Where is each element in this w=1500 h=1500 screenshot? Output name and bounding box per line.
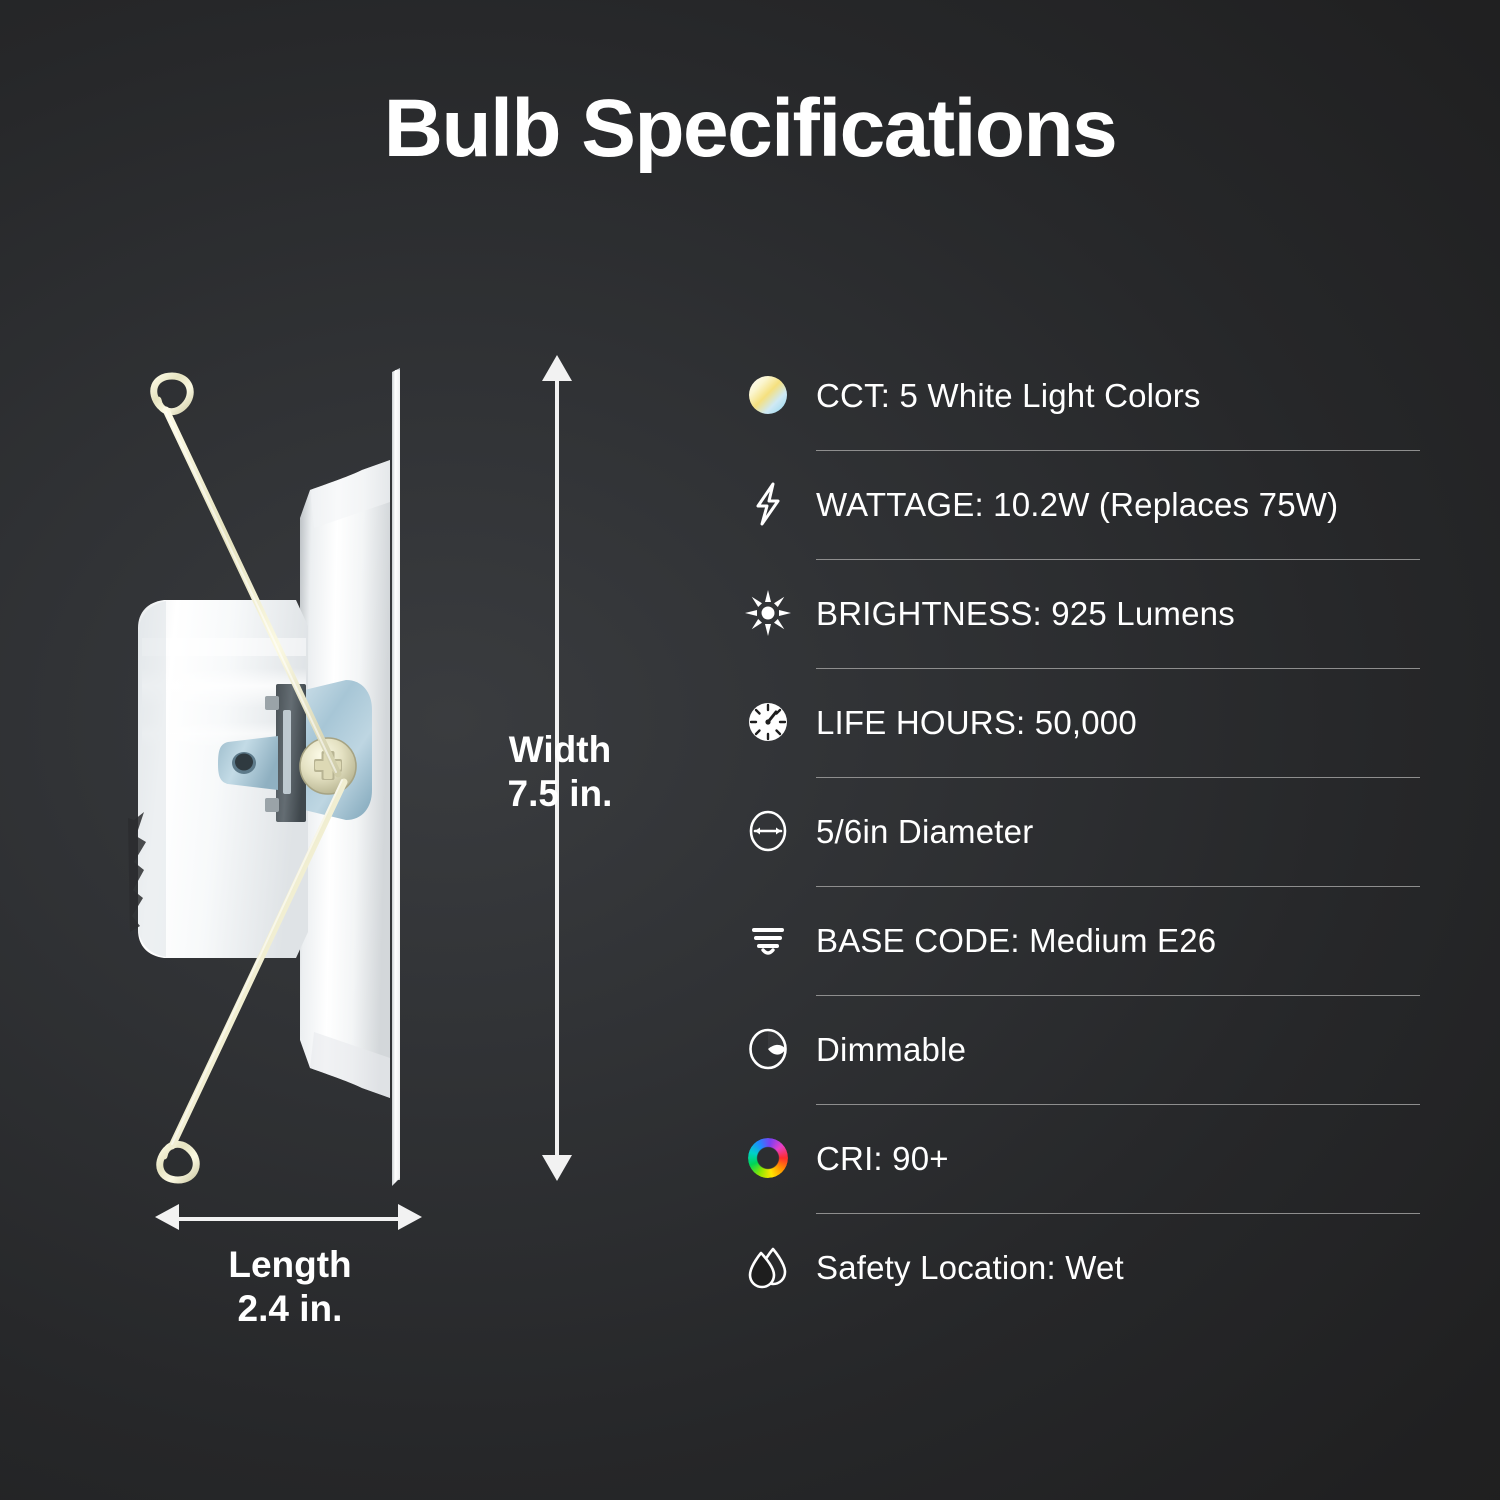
spec-label-base-code: BASE CODE: Medium E26 [816, 924, 1216, 957]
width-dimension-arrow-bottom [542, 1155, 572, 1181]
spec-row-dimmable: Dimmable [720, 1006, 1420, 1092]
spec-label-safety-location: Safety Location: Wet [816, 1251, 1124, 1284]
spec-row-cct: CCT: 5 White Light Colors [720, 352, 1420, 438]
length-dimension-label: Length 2.4 in. [180, 1243, 400, 1330]
spec-label-brightness: BRIGHTNESS: 925 Lumens [816, 597, 1235, 630]
cct-gradient-circle-icon [720, 364, 816, 426]
length-label-text: Length [180, 1243, 400, 1287]
spec-divider-2 [720, 547, 1420, 570]
color-wheel-icon [720, 1127, 816, 1189]
lightning-bolt-icon [720, 473, 816, 535]
water-droplets-icon [720, 1236, 816, 1298]
spec-divider-5 [720, 874, 1420, 897]
spec-label-life-hours: LIFE HOURS: 50,000 [816, 706, 1137, 739]
spec-row-life-hours: LIFE HOURS: 50,000 [720, 679, 1420, 765]
spec-divider-8 [720, 1201, 1420, 1224]
diameter-arrow-icon [720, 800, 816, 862]
width-dimension-label: Width 7.5 in. [470, 728, 650, 815]
length-dimension-arrow-right [398, 1204, 422, 1230]
width-label-value: 7.5 in. [470, 772, 650, 816]
spec-label-wattage: WATTAGE: 10.2W (Replaces 75W) [816, 488, 1338, 521]
spec-divider-6 [720, 983, 1420, 1006]
spec-row-safety-location: Safety Location: Wet [720, 1224, 1420, 1310]
spec-sheet-canvas: Bulb Specifications [0, 0, 1500, 1500]
spec-label-cri: CRI: 90+ [816, 1142, 949, 1175]
length-dimension-line [172, 1217, 407, 1221]
spec-divider-4 [720, 765, 1420, 788]
spec-label-diameter: 5/6in Diameter [816, 815, 1033, 848]
clock-timer-icon [720, 691, 816, 753]
spec-row-brightness: BRIGHTNESS: 925 Lumens [720, 570, 1420, 656]
product-image [100, 350, 520, 1210]
width-label-text: Width [470, 728, 650, 772]
spec-divider-1 [720, 438, 1420, 461]
bulb-base-icon [720, 909, 816, 971]
sun-burst-icon [720, 582, 816, 644]
spec-row-cri: CRI: 90+ [720, 1115, 1420, 1201]
spec-divider-3 [720, 656, 1420, 679]
specifications-list: CCT: 5 White Light Colors WATTAGE: 10.2W… [720, 352, 1420, 1310]
spec-row-diameter: 5/6in Diameter [720, 788, 1420, 874]
spec-divider-7 [720, 1092, 1420, 1115]
length-label-value: 2.4 in. [180, 1287, 400, 1331]
spec-label-cct: CCT: 5 White Light Colors [816, 379, 1201, 412]
spec-label-dimmable: Dimmable [816, 1033, 966, 1066]
spec-row-base-code: BASE CODE: Medium E26 [720, 897, 1420, 983]
page-title: Bulb Specifications [0, 88, 1500, 170]
spec-row-wattage: WATTAGE: 10.2W (Replaces 75W) [720, 461, 1420, 547]
downlight-illustration [100, 350, 520, 1210]
dimmer-knob-icon [720, 1018, 816, 1080]
